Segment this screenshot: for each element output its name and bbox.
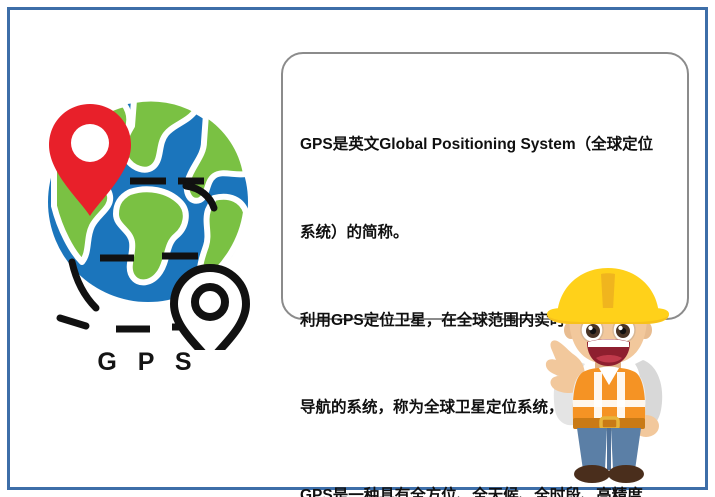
worker-mouth — [587, 339, 630, 366]
map-pin-outline — [174, 268, 246, 350]
worker-pants — [577, 428, 641, 470]
gps-caption-label: G P S — [38, 348, 258, 377]
bubble-line-2: 系统）的简称。 — [300, 218, 682, 247]
gps-illustration: G P S — [38, 80, 258, 390]
slide-canvas: G P S GPS是英文Global Positioning System（全球… — [0, 0, 715, 497]
worker-character — [523, 268, 698, 490]
worker-right-shoe — [608, 465, 644, 483]
worker-left-shoe — [574, 465, 610, 483]
worker-safety-vest — [573, 367, 645, 421]
bubble-line-1: GPS是英文Global Positioning System（全球定位 — [300, 130, 682, 159]
globe-graphic — [38, 80, 258, 350]
worker-hard-hat — [547, 268, 669, 324]
